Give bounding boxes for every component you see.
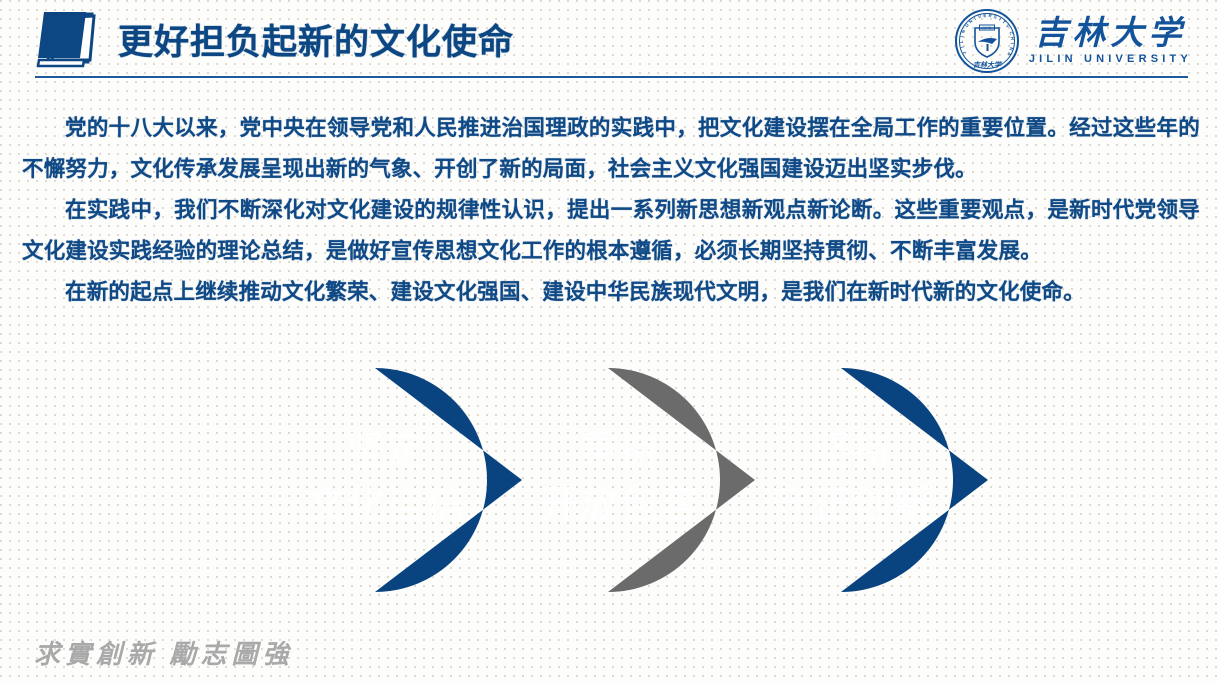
svg-text:H: H	[1010, 36, 1015, 40]
svg-text:I: I	[998, 17, 1002, 22]
svg-text:N: N	[1008, 47, 1014, 52]
diagram-node-3-line2: 守正创新	[772, 483, 932, 527]
paragraph-2: 在实践中，我们不断深化对文化建设的规律性认识，提出一系列新思想新观点新论断。这些…	[22, 190, 1200, 272]
logo-wordmark: 吉林大学 JILIN UNIVERSITY	[1029, 17, 1192, 66]
svg-text:N: N	[960, 29, 966, 34]
svg-text:S: S	[993, 14, 997, 20]
paragraph-1: 党的十八大以来，党中央在领导党和人民推进治国理政的实践中，把文化建设摆在全局工作…	[22, 108, 1200, 190]
logo-name-en: JILIN UNIVERSITY	[1029, 53, 1192, 65]
slide-canvas: 更好担负起新的文化使命 J I L I N U N I	[0, 0, 1220, 683]
svg-text:J: J	[961, 50, 967, 55]
svg-text:Y: Y	[1005, 23, 1011, 28]
svg-text:E: E	[983, 13, 986, 18]
diagram-node-3[interactable]: 坚持 守正创新	[718, 368, 988, 592]
diagram-node-2-line1: 秉持	[579, 429, 659, 473]
diagram-node-1[interactable]: 坚定 文化自信	[306, 368, 522, 592]
logo-name-cn: 吉林大学	[1034, 17, 1186, 52]
diagram-node-2-line2: 开放包容	[539, 483, 699, 527]
svg-text:L: L	[959, 40, 964, 43]
jilin-university-seal-icon: J I L I N U N I V E R S I T Y	[954, 8, 1020, 74]
svg-text:1946: 1946	[983, 26, 991, 30]
svg-text:N: N	[968, 19, 974, 25]
diagram-node-1-line1: 坚定	[346, 429, 426, 473]
svg-text:I: I	[959, 36, 964, 38]
diagram-node-3-line1: 坚持	[812, 429, 892, 473]
page-title: 更好担负起新的文化使命	[118, 14, 514, 65]
diagram-node-2[interactable]: 秉持 开放包容	[539, 368, 755, 592]
paragraph-3: 在新的起点上继续推动文化繁荣、建设文化强国、建设中华民族现代文明，是我们在新时代…	[22, 272, 1200, 313]
chevron-flow-diagram: 坚持 守正创新 秉持 开放包容 坚定 文化自信	[248, 360, 988, 600]
footer-motto: 求實創新 勵志圖強	[34, 634, 294, 671]
header-divider	[35, 76, 1188, 78]
slide-header: 更好担负起新的文化使命 J I L I N U N I	[0, 0, 1220, 86]
svg-text:I: I	[1010, 43, 1015, 45]
svg-text:A: A	[1006, 51, 1012, 57]
body-copy: 党的十八大以来，党中央在领导党和人民推进治国理政的实践中，把文化建设摆在全局工作…	[22, 108, 1200, 313]
svg-text:吉林大学: 吉林大学	[973, 60, 1002, 69]
book-icon	[30, 10, 106, 72]
university-logo: J I L I N U N I V E R S I T Y	[954, 6, 1192, 76]
diagram-node-1-line2: 文化自信	[306, 483, 466, 527]
